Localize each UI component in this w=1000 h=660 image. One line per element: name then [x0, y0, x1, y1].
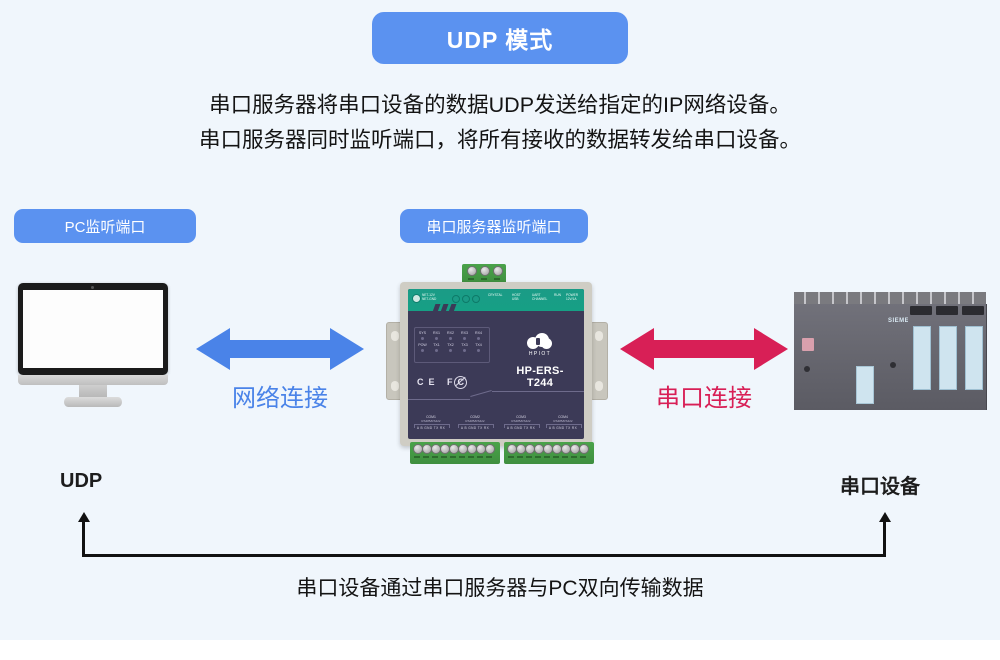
led-label-rx3: RX3 — [458, 331, 471, 336]
device-mount-ear-right — [590, 322, 608, 400]
led-dot — [463, 337, 466, 340]
jack-icon — [472, 295, 480, 303]
pill-pc-listen-port-label: PC监听端口 — [65, 216, 146, 237]
com1-type: RS485/RS422 — [412, 419, 450, 423]
serial-connection-arrow-group: 串口连接 — [620, 326, 788, 413]
plc-red-label — [802, 338, 814, 351]
plc-io-module-2 — [934, 304, 961, 410]
band-label-uart: UARTCHANNEL — [532, 293, 547, 301]
led-dot — [421, 349, 424, 352]
com2-type: RS485/RS422 — [456, 419, 494, 423]
band-label-run: RUN — [554, 293, 561, 297]
terminal-slot — [468, 278, 474, 280]
terminal-block-bottom-left — [410, 442, 500, 464]
terminal-top-screws — [462, 266, 506, 277]
plc-terminal-strip — [913, 326, 931, 390]
pc-monitor-illustration — [18, 283, 168, 408]
hpiot-cloud-logo-icon — [527, 333, 553, 350]
plc-cpu-module: SIEMENS — [850, 304, 909, 410]
pill-server-listen-port-label: 串口服务器监听端口 — [426, 216, 561, 237]
diagram-canvas: UDP 模式 串口服务器将串口设备的数据UDP发送给指定的IP网络设备。 串口服… — [0, 0, 1000, 640]
led-label-rx1: RX1 — [430, 331, 443, 336]
screw — [467, 266, 477, 276]
band-label-host: HOSTUSB — [512, 293, 521, 301]
led-dot — [435, 349, 438, 352]
bottom-label-serial-device: 串口设备 — [840, 470, 920, 499]
bracket-vertical-left — [82, 520, 85, 556]
monitor-bezel — [18, 283, 168, 375]
led-label-sys: SYS — [416, 331, 429, 336]
device-brand-label: HPIOT — [504, 351, 576, 357]
panel-screw-icon — [412, 294, 421, 303]
led-indicator-box: SYS POW RX1 TX1 RX2 TX2 — [414, 327, 490, 363]
led-label-tx4: TX4 — [472, 343, 485, 348]
monitor-chin — [18, 375, 168, 385]
monitor-camera-icon — [91, 286, 94, 289]
device-brand-block: HPIOT HP-ERS-T244 — [504, 333, 576, 389]
pill-pc-listen-port: PC监听端口 — [14, 209, 196, 243]
description-line-1: 串口服务器将串口设备的数据UDP发送给指定的IP网络设备。 — [0, 88, 1000, 123]
bracket-horizontal — [82, 554, 886, 557]
screw — [485, 444, 495, 454]
plc-slot-label — [856, 366, 874, 404]
device-front-panel: NET-12VNET-GND CRYSTAL HOSTUSB UARTCHANN… — [408, 289, 584, 439]
terminal-slot — [481, 278, 487, 280]
device-model-label: HP-ERS-T244 — [504, 365, 576, 389]
plc-io-module-3 — [960, 304, 987, 410]
title-banner: UDP 模式 — [372, 12, 628, 64]
plc-module-cap — [936, 306, 958, 315]
network-connection-label: 网络连接 — [196, 378, 364, 413]
jack-icon — [462, 295, 470, 303]
plc-terminal-strip — [939, 326, 957, 390]
led-dot — [421, 337, 424, 340]
plc-body: SIEMENS — [794, 304, 986, 410]
device-top-band: NET-12VNET-GND CRYSTAL HOSTUSB UARTCHANN… — [408, 289, 584, 311]
band-label-power: NET-12VNET-GND — [422, 293, 436, 301]
band-label-power2: POWER12V/1A — [566, 293, 578, 301]
panel-decor-line — [408, 399, 584, 401]
terminal-block-top — [462, 264, 506, 284]
led-dot — [435, 337, 438, 340]
led-label-tx2: TX2 — [444, 343, 457, 348]
double-arrow-horizontal-icon — [620, 326, 788, 372]
bottom-caption: 串口设备通过串口服务器与PC双向传输数据 — [0, 572, 1000, 602]
screw — [579, 444, 589, 454]
terminal-block-bottom-right — [504, 442, 594, 464]
double-arrow-horizontal-icon — [196, 326, 364, 372]
description-line-2: 串口服务器同时监听端口，将所有接收的数据转发给串口设备。 — [0, 123, 1000, 158]
title-banner-label: UDP 模式 — [447, 21, 554, 55]
network-connection-arrow-group: 网络连接 — [196, 326, 364, 413]
description-block: 串口服务器将串口设备的数据UDP发送给指定的IP网络设备。 串口服务器同时监听端… — [0, 88, 1000, 158]
waste-bin-cert-icon — [454, 376, 467, 389]
com-port-label-area: COM1 RS485/RS422 A B GND TX RX COM2 RS48… — [412, 415, 582, 437]
bidirectional-bracket — [76, 512, 892, 558]
bottom-white-strip — [0, 640, 1000, 660]
plc-io-module-1 — [908, 304, 935, 410]
bottom-label-udp: UDP — [60, 470, 102, 493]
jack-icon — [452, 295, 460, 303]
led-label-pow: POW — [416, 343, 429, 348]
led-dot — [477, 337, 480, 340]
bracket-vertical-right — [883, 520, 886, 556]
led-dot — [449, 349, 452, 352]
screw — [493, 266, 503, 276]
serial-connection-label: 串口连接 — [620, 378, 788, 413]
pill-server-listen-port: 串口服务器监听端口 — [400, 209, 588, 243]
led-label-tx1: TX1 — [430, 343, 443, 348]
monitor-screen — [23, 290, 163, 368]
screw — [480, 266, 490, 276]
plc-module-cap — [910, 306, 932, 315]
monitor-base — [64, 397, 122, 407]
serial-server-device-illustration: NET-12VNET-GND CRYSTAL HOSTUSB UARTCHANN… — [378, 264, 614, 464]
led-dot — [449, 337, 452, 340]
terminal-slot — [494, 278, 500, 280]
plc-terminal-strip — [965, 326, 983, 390]
led-dot — [463, 349, 466, 352]
plc-module-cap — [962, 306, 984, 315]
led-label-rx2: RX2 — [444, 331, 457, 336]
plc-power-module — [794, 304, 851, 410]
plc-device-illustration: SIEMENS — [794, 292, 986, 412]
led-label-tx3: TX3 — [458, 343, 471, 348]
led-dot — [477, 349, 480, 352]
led-label-rx4: RX4 — [472, 331, 485, 336]
com3-type: RS485/RS422 — [502, 419, 540, 423]
band-label-crystal: CRYSTAL — [488, 293, 502, 297]
com4-type: RS485/RS422 — [544, 419, 582, 423]
